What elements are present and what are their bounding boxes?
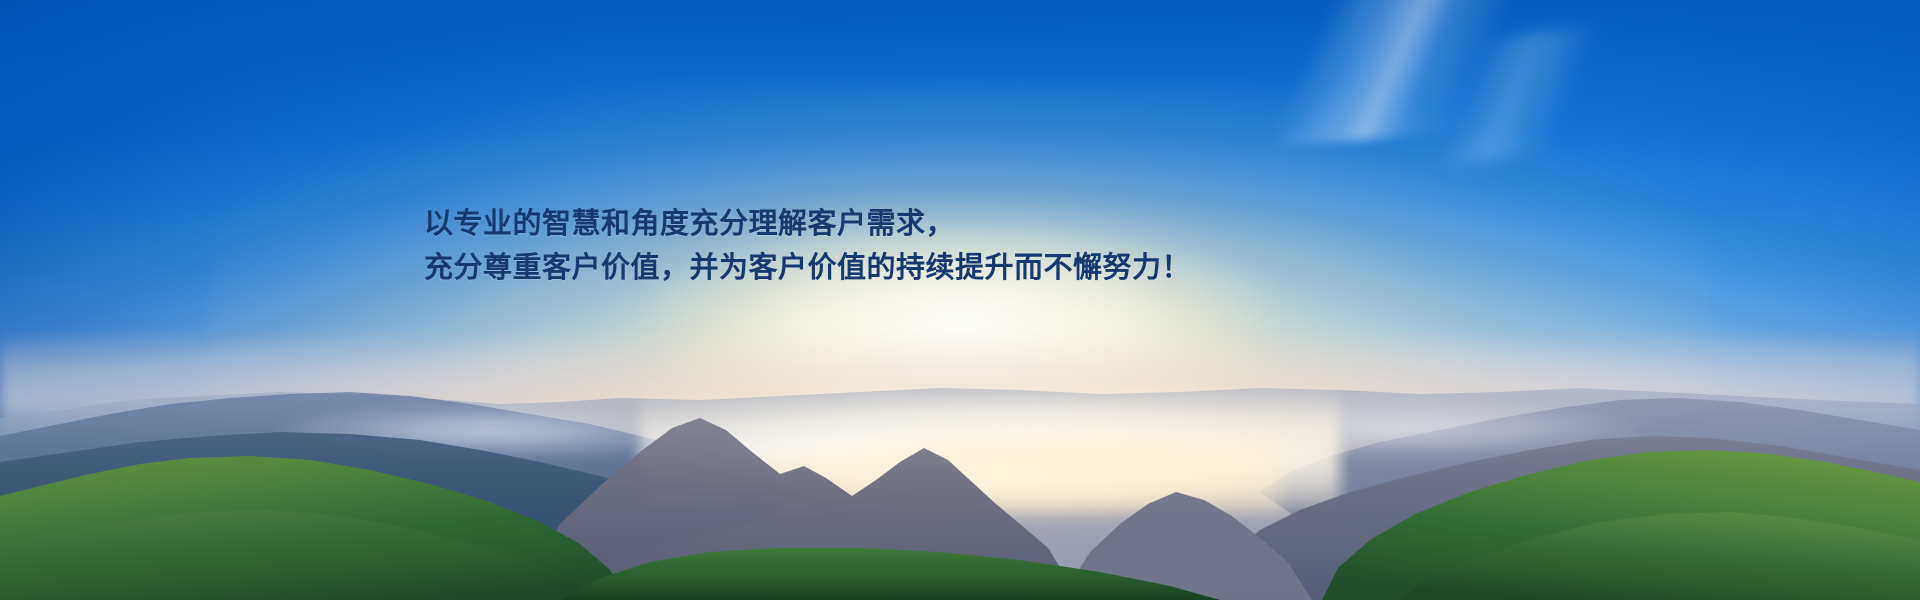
headline-line-2: 充分尊重客户价值，并为客户价值的持续提升而不懈努力！	[424, 246, 1191, 290]
headline-line-1: 以专业的智慧和角度充分理解客户需求，	[424, 202, 1191, 246]
banner-headline: 以专业的智慧和角度充分理解客户需求， 充分尊重客户价值，并为客户价值的持续提升而…	[424, 202, 1191, 290]
corporate-hero-banner: 以专业的智慧和角度充分理解客户需求， 充分尊重客户价值，并为客户价值的持续提升而…	[0, 0, 1920, 600]
green-forested-foreground	[0, 0, 1920, 600]
